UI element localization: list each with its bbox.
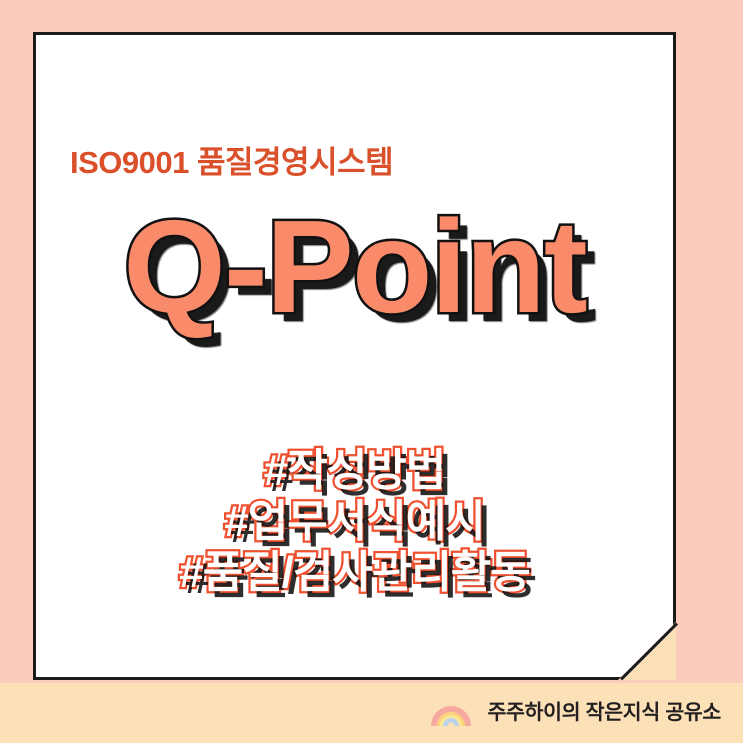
hashtag-item: #작성방법 — [36, 445, 673, 496]
page-title: Q-Point — [36, 201, 673, 333]
footer-brand: 주주하이의 작은지식 공유소 — [428, 700, 721, 726]
hashtag-item: #품질/검사관리활동 — [36, 547, 673, 598]
footer-band: 주주하이의 작은지식 공유소 — [0, 683, 743, 743]
hashtag-list: #작성방법 #업무서식예시 #품질/검사관리활동 — [36, 445, 673, 598]
card-inner: ISO9001 품질경영시스템 Q-Point #작성방법 #업무서식예시 #품… — [36, 35, 673, 677]
footer-brand-label: 주주하이의 작은지식 공유소 — [487, 703, 721, 724]
hashtag-item: #업무서식예시 — [36, 496, 673, 547]
content-card: ISO9001 품질경영시스템 Q-Point #작성방법 #업무서식예시 #품… — [33, 32, 676, 680]
eyebrow-standard-label: ISO9001 품질경영시스템 — [70, 147, 393, 178]
poster-canvas: ISO9001 품질경영시스템 Q-Point #작성방법 #업무서식예시 #품… — [0, 0, 743, 743]
rainbow-icon — [428, 700, 474, 726]
